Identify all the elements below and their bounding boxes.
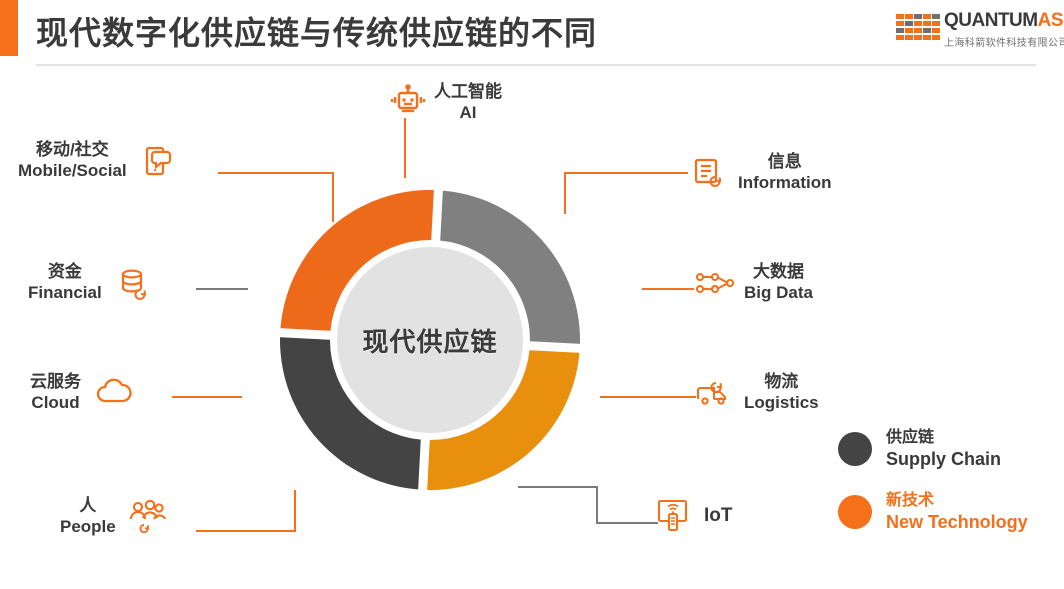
node-financial-cn: 资金 bbox=[28, 262, 102, 283]
robot-icon bbox=[388, 83, 428, 123]
node-iot-labels: IoT bbox=[704, 504, 733, 527]
legend-dot-supply-chain bbox=[838, 432, 872, 466]
cloud-icon bbox=[93, 373, 133, 413]
page-title: 现代数字化供应链与传统供应链的不同 bbox=[36, 8, 597, 54]
logo-word-accent: ASIA bbox=[1038, 10, 1064, 31]
connector-financial bbox=[196, 288, 248, 292]
company-logo: QUANTUMASIA 上海科箭软件科技有限公司 bbox=[896, 10, 1056, 52]
node-logistics-labels: 物流 Logistics bbox=[744, 372, 819, 413]
iot-screen-icon bbox=[654, 496, 694, 536]
node-iot-cn: IoT bbox=[704, 504, 733, 527]
node-cloud-cn: 云服务 bbox=[30, 372, 81, 393]
donut-center-label: 现代供应链 bbox=[362, 322, 497, 359]
connector-iot bbox=[518, 486, 658, 526]
node-ai-en: AI bbox=[434, 103, 502, 124]
chart-legend: 供应链 Supply Chain 新技术 New Technology bbox=[838, 428, 1064, 553]
node-ai-labels: 人工智能 AI bbox=[434, 82, 502, 123]
legend-item-supply-chain[interactable]: 供应链 Supply Chain bbox=[838, 428, 1064, 471]
legend-en-new-technology: New Technology bbox=[886, 511, 1028, 534]
node-cloud[interactable]: 云服务 Cloud bbox=[30, 372, 133, 413]
node-financial-labels: 资金 Financial bbox=[28, 262, 102, 303]
connector-bigdata bbox=[642, 288, 694, 292]
node-ai-cn: 人工智能 bbox=[434, 82, 502, 103]
node-mobile-cn: 移动/社交 bbox=[18, 140, 127, 161]
network-nodes-icon bbox=[694, 263, 734, 303]
node-people-labels: 人 People bbox=[60, 496, 116, 537]
node-mobile-labels: 移动/社交 Mobile/Social bbox=[18, 140, 127, 181]
node-bigdata-labels: 大数据 Big Data bbox=[744, 262, 813, 303]
node-mobile-en: Mobile/Social bbox=[18, 161, 127, 182]
legend-labels-new-technology: 新技术 New Technology bbox=[886, 491, 1028, 534]
node-logistics-en: Logistics bbox=[744, 393, 819, 414]
slide-header: 现代数字化供应链与传统供应链的不同 QUANTUMASIA 上海科箭软件科技有限… bbox=[0, 0, 1064, 72]
truck-sync-icon bbox=[694, 373, 734, 413]
logo-word-dark: QUANTUM bbox=[944, 10, 1038, 31]
legend-cn-new-technology: 新技术 bbox=[886, 491, 1028, 511]
phone-chat-icon bbox=[137, 141, 177, 181]
header-divider bbox=[36, 64, 1036, 66]
logo-subtitle: 上海科箭软件科技有限公司 bbox=[944, 34, 1064, 49]
node-iot[interactable]: IoT bbox=[654, 496, 733, 536]
node-information-en: Information bbox=[738, 173, 832, 194]
legend-labels-supply-chain: 供应链 Supply Chain bbox=[886, 428, 1001, 471]
title-accent-bar bbox=[0, 0, 18, 56]
node-logistics-cn: 物流 bbox=[744, 372, 819, 393]
node-people-cn: 人 bbox=[60, 496, 116, 517]
legend-cn-supply-chain: 供应链 bbox=[886, 428, 1001, 448]
node-people-en: People bbox=[60, 517, 116, 538]
logo-dots-icon bbox=[896, 14, 940, 40]
node-logistics[interactable]: 物流 Logistics bbox=[694, 372, 819, 413]
node-ai[interactable]: 人工智能 AI bbox=[388, 82, 502, 123]
connector-cloud bbox=[172, 396, 242, 400]
node-financial-en: Financial bbox=[28, 283, 102, 304]
logo-wordmark: QUANTUMASIA bbox=[944, 10, 1064, 32]
connector-people bbox=[196, 490, 296, 532]
slide-canvas: 现代数字化供应链与传统供应链的不同 QUANTUMASIA 上海科箭软件科技有限… bbox=[0, 0, 1064, 589]
node-information-labels: 信息 Information bbox=[738, 152, 832, 193]
node-cloud-labels: 云服务 Cloud bbox=[30, 372, 81, 413]
node-cloud-en: Cloud bbox=[30, 393, 81, 414]
database-sync-icon bbox=[114, 263, 154, 303]
node-financial[interactable]: 资金 Financial bbox=[28, 262, 154, 303]
node-mobile[interactable]: 移动/社交 Mobile/Social bbox=[18, 140, 177, 181]
node-bigdata-en: Big Data bbox=[744, 283, 813, 304]
connector-mobile bbox=[218, 172, 334, 224]
node-bigdata-cn: 大数据 bbox=[744, 262, 813, 283]
node-people[interactable]: 人 People bbox=[60, 496, 166, 537]
donut-center: 现代供应链 bbox=[330, 240, 530, 440]
connector-ai bbox=[404, 118, 408, 178]
document-sync-icon bbox=[690, 153, 730, 193]
node-information[interactable]: 信息 Information bbox=[690, 152, 832, 193]
node-bigdata[interactable]: 大数据 Big Data bbox=[694, 262, 813, 303]
node-information-cn: 信息 bbox=[738, 152, 832, 173]
connector-logistics bbox=[600, 396, 696, 400]
people-group-icon bbox=[126, 497, 166, 537]
connector-information bbox=[564, 172, 688, 216]
legend-dot-new-technology bbox=[838, 495, 872, 529]
legend-en-supply-chain: Supply Chain bbox=[886, 448, 1001, 471]
legend-item-new-technology[interactable]: 新技术 New Technology bbox=[838, 491, 1064, 534]
